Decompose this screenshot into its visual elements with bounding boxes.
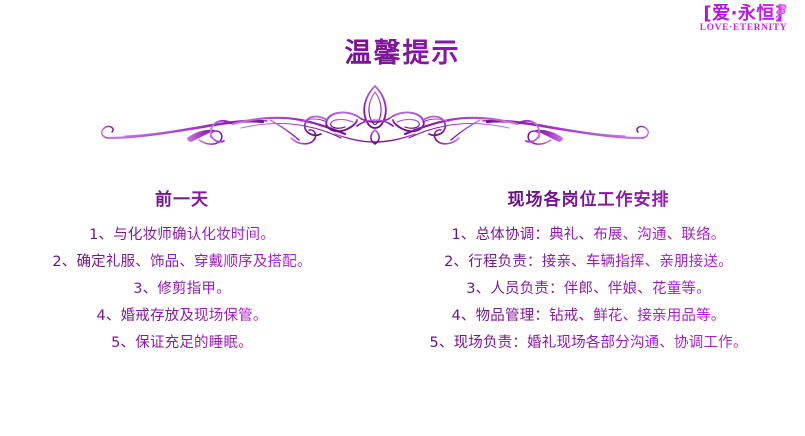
list-item: 3、人员负责：伴郎、伴娘、花童等。 (378, 276, 799, 303)
list-item: 2、确定礼服、饰品、穿戴顺序及搭配。 (8, 249, 356, 276)
column-onsite-roles: 现场各岗位工作安排 1、总体协调：典礼、布展、沟通、联络。 2、行程负责：接亲、… (370, 188, 805, 357)
list-item: 4、物品管理：钻戒、鲜花、接亲用品等。 (378, 303, 799, 330)
content-columns: 前一天 1、与化妆师确认化妆时间。 2、确定礼服、饰品、穿戴顺序及搭配。 3、修… (0, 188, 805, 357)
page-title: 温馨提示 (0, 38, 805, 70)
column-heading-day-before: 前一天 (8, 188, 356, 212)
list-item: 5、现场负责：婚礼现场各部分沟通、协调工作。 (378, 330, 799, 357)
item-list-day-before: 1、与化妆师确认化妆时间。 2、确定礼服、饰品、穿戴顺序及搭配。 3、修剪指甲。… (8, 222, 356, 357)
list-item: 4、婚戒存放及现场保管。 (8, 303, 356, 330)
column-heading-onsite-roles: 现场各岗位工作安排 (378, 188, 799, 212)
list-item: 1、总体协调：典礼、布展、沟通、联络。 (378, 222, 799, 249)
column-day-before: 前一天 1、与化妆师确认化妆时间。 2、确定礼服、饰品、穿戴顺序及搭配。 3、修… (0, 188, 370, 357)
list-item: 3、修剪指甲。 (8, 276, 356, 303)
list-item: 5、保证充足的睡眠。 (8, 330, 356, 357)
brand-name-english: LOVE·ETERNITY (686, 23, 801, 34)
list-item: 1、与化妆师确认化妆时间。 (8, 222, 356, 249)
list-item: 2、行程负责：接亲、车辆指挥、亲朋接送。 (378, 249, 799, 276)
floral-flourish-divider-icon (95, 80, 655, 160)
flower-icon (770, 2, 790, 22)
brand-logo: [爱·永恒] LOVE·ETERNITY (686, 4, 801, 40)
item-list-onsite-roles: 1、总体协调：典礼、布展、沟通、联络。 2、行程负责：接亲、车辆指挥、亲朋接送。… (378, 222, 799, 357)
